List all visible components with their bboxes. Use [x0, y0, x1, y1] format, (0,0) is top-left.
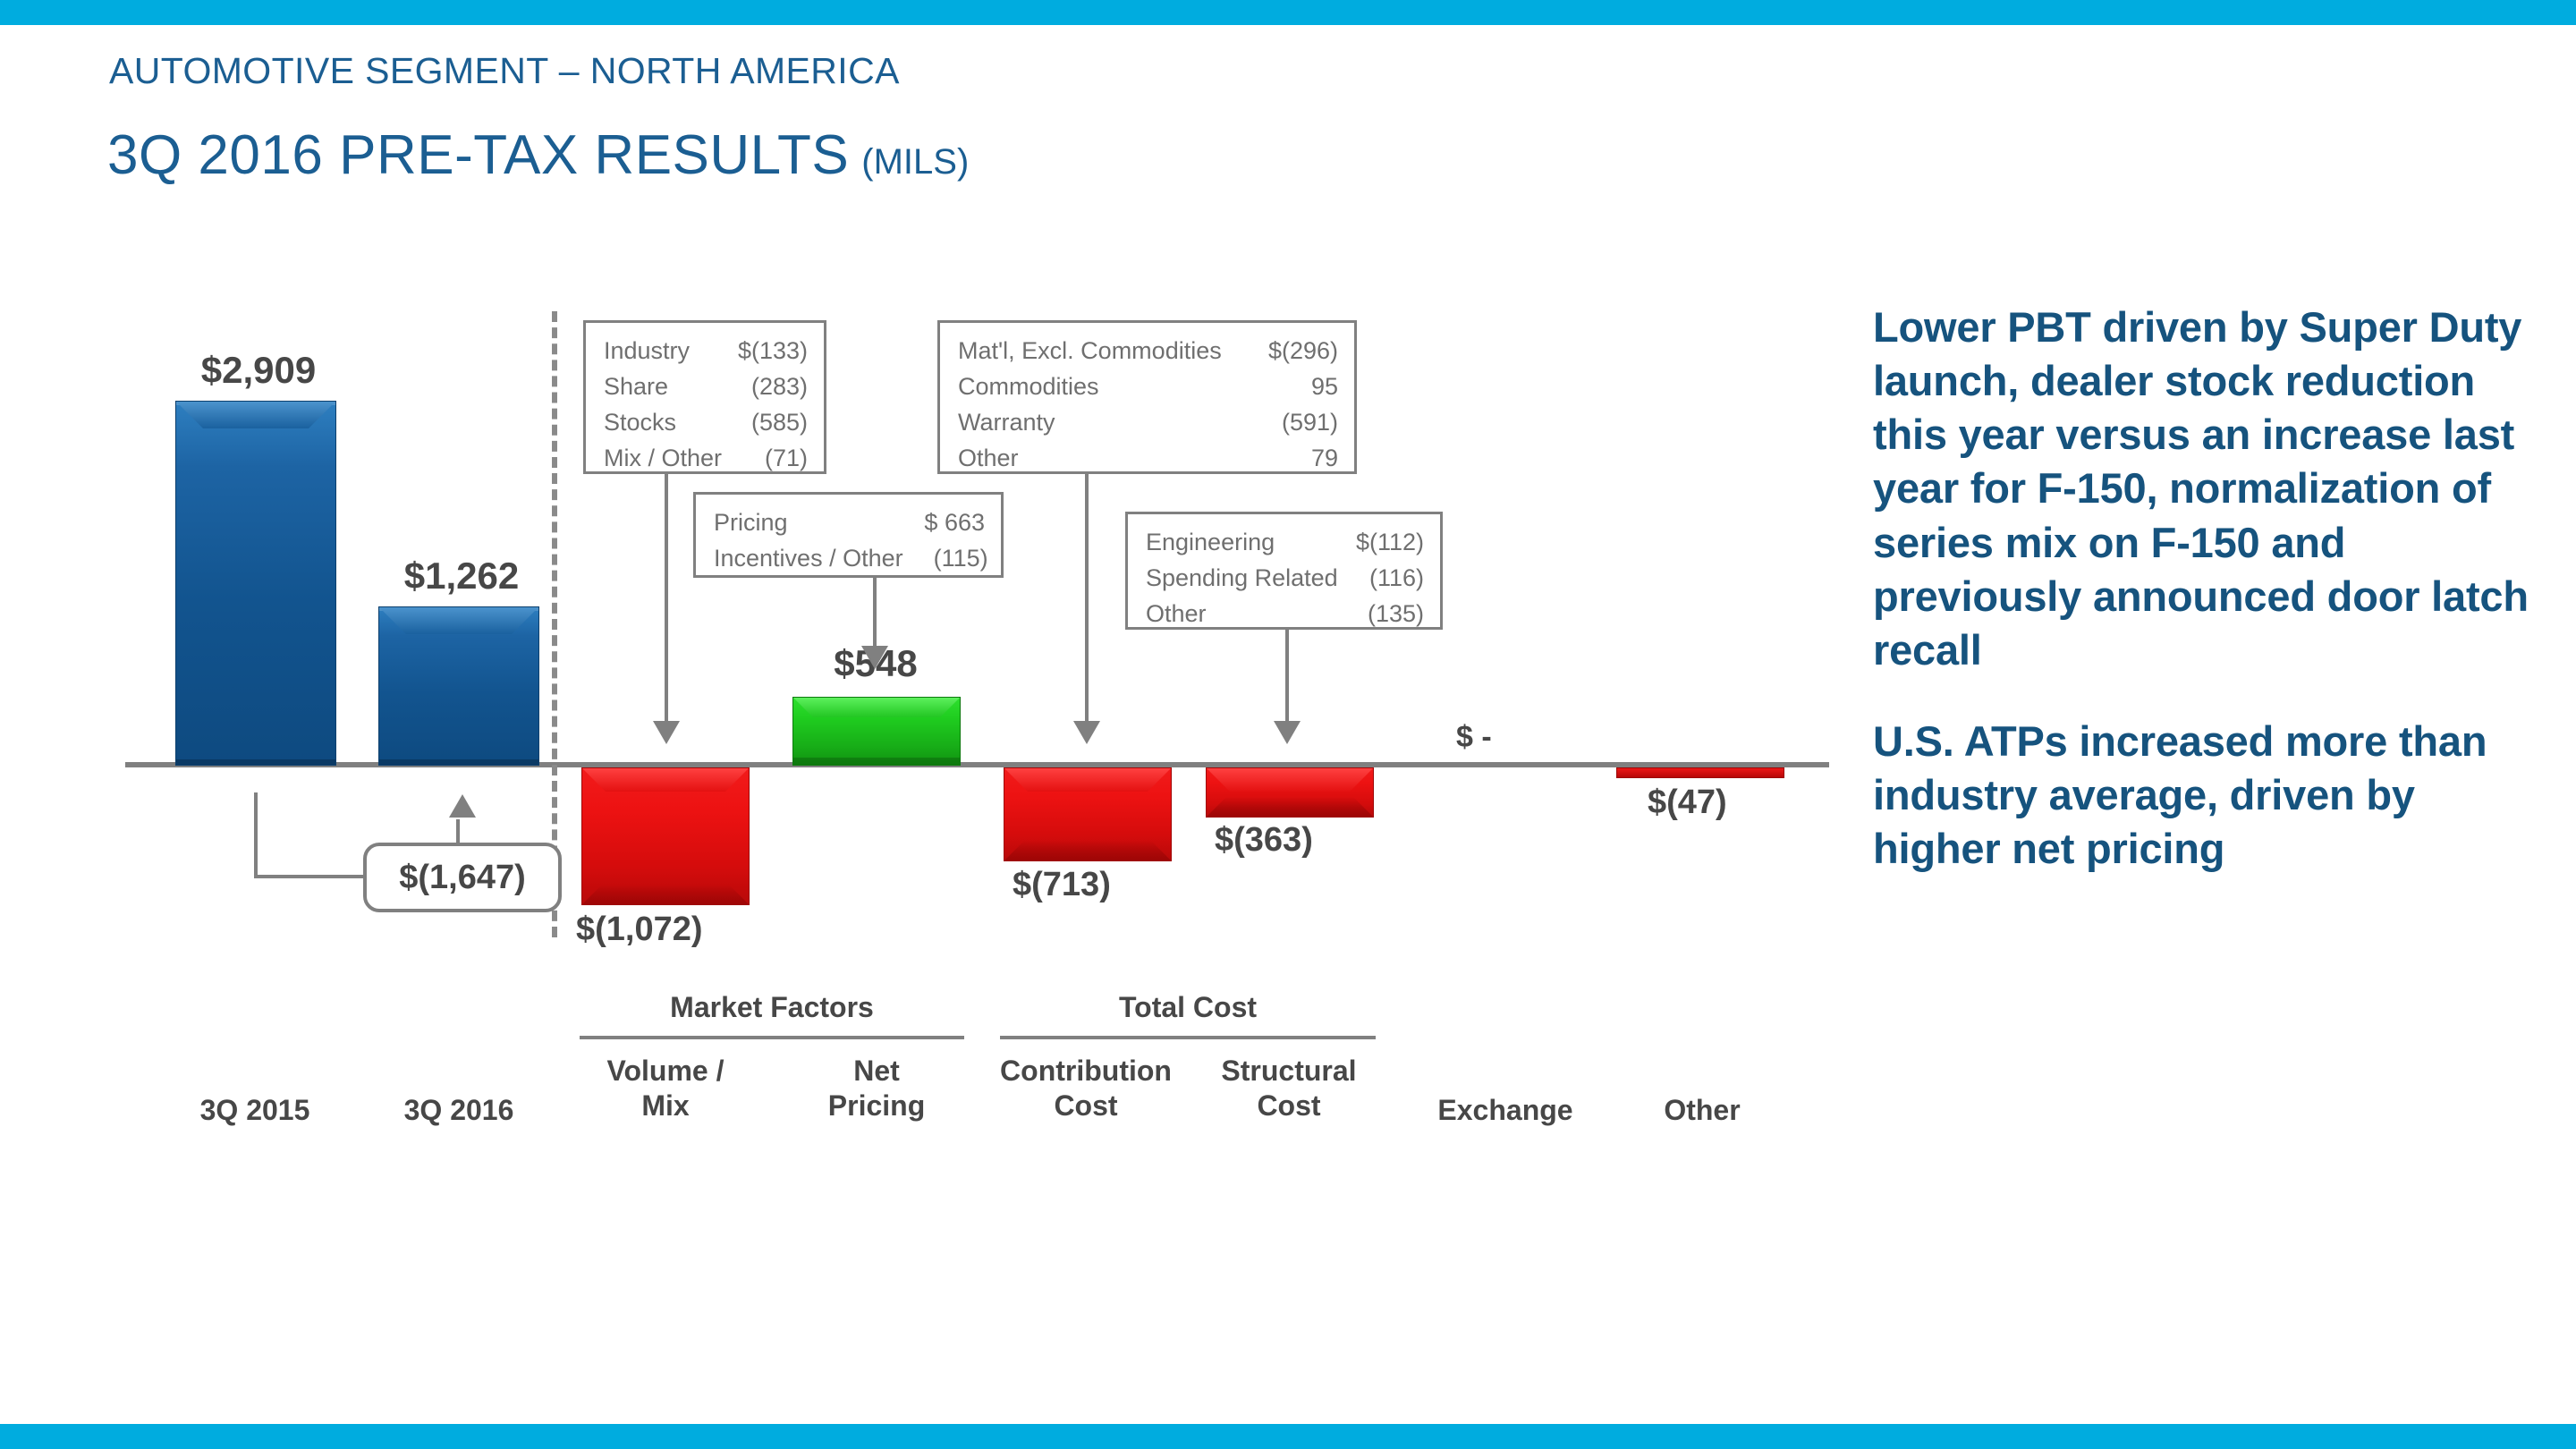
callout-row-value: $(296) — [1268, 334, 1338, 369]
value-label-3q-2015: $2,909 — [179, 349, 338, 392]
commentary-paragraph-1: Lower PBT driven by Super Duty launch, d… — [1873, 301, 2535, 677]
total-change-arrow-stem — [456, 819, 460, 844]
bar-contribution-cost[interactable] — [1004, 767, 1172, 861]
callout-row-label: Stocks — [604, 405, 676, 441]
callout-row: Pricing $ 663 — [714, 505, 985, 541]
callout-row-value: (591) — [1282, 405, 1338, 441]
callout-row-value: (115) — [934, 541, 988, 577]
axis-label-line2: Cost — [1190, 1089, 1388, 1123]
callout-row-label: Engineering — [1146, 525, 1275, 561]
callout-row-label: Pricing — [714, 505, 788, 541]
callout-row: Share (283) — [604, 369, 808, 405]
callout-row: Stocks (585) — [604, 405, 808, 441]
callout-row-label: Other — [958, 441, 1019, 477]
callout-row: Mat'l, Excl. Commodities $(296) — [958, 334, 1338, 369]
axis-label-line1: Contribution — [982, 1054, 1190, 1089]
axis-label-line1: Structural — [1190, 1054, 1388, 1089]
callout-row: Industry $(133) — [604, 334, 808, 369]
group-header-total-cost: Total Cost — [1000, 991, 1376, 1024]
bottom-brand-bar — [0, 1424, 2576, 1449]
callout-row-value: (283) — [751, 369, 808, 405]
callout-row-value: $(112) — [1356, 525, 1424, 561]
callout-row: Other 79 — [958, 441, 1338, 477]
axis-label-line2: Cost — [982, 1089, 1190, 1123]
callout-row-label: Mix / Other — [604, 441, 722, 477]
group-header-total-cost-rule — [1000, 1036, 1376, 1039]
commentary-paragraph-2: U.S. ATPs increased more than industry a… — [1873, 715, 2535, 876]
axis-label-3q-2016: 3Q 2016 — [374, 1093, 544, 1128]
waterfall-chart: $2,909 $1,262 $(1,072) $548 $(713) $(363… — [0, 0, 1851, 1163]
callout-row: Spending Related (116) — [1146, 561, 1424, 597]
callout-row-value: (135) — [1368, 597, 1424, 632]
callout-row: Commodities 95 — [958, 369, 1338, 405]
axis-label-structural-cost: Structural Cost — [1190, 1054, 1388, 1123]
callout-row-value: 79 — [1311, 441, 1338, 477]
axis-label-exchange: Exchange — [1406, 1093, 1605, 1128]
callout-row-label: Warranty — [958, 405, 1055, 441]
value-label-3q-2016: $1,262 — [382, 555, 541, 597]
bar-net-pricing[interactable] — [792, 697, 961, 766]
callout-row-value: (585) — [751, 405, 808, 441]
axis-label-net-pricing: Net Pricing — [791, 1054, 962, 1123]
callout-row-value: 95 — [1311, 369, 1338, 405]
group-header-market-factors-rule — [580, 1036, 964, 1039]
contribution-cost-connector-stem — [1085, 474, 1089, 723]
callout-row-value: $(133) — [738, 334, 808, 369]
net-pricing-callout[interactable]: Pricing $ 663 Incentives / Other (115) — [693, 492, 1004, 578]
callout-row-value: (71) — [765, 441, 808, 477]
value-label-exchange: $ - — [1456, 720, 1492, 755]
callout-row-label: Incentives / Other — [714, 541, 903, 577]
structural-cost-connector-stem — [1285, 630, 1289, 723]
value-label-volume-mix: $(1,072) — [576, 911, 703, 949]
structural-cost-callout[interactable]: Engineering $(112) Spending Related (116… — [1125, 512, 1443, 630]
callout-row: Engineering $(112) — [1146, 525, 1424, 561]
axis-label-line1: Other — [1617, 1093, 1787, 1128]
contribution-cost-callout[interactable]: Mat'l, Excl. Commodities $(296) Commodit… — [937, 320, 1357, 474]
callout-row: Mix / Other (71) — [604, 441, 808, 477]
volume-mix-callout[interactable]: Industry $(133) Share (283) Stocks (585)… — [583, 320, 826, 474]
bar-volume-mix[interactable] — [581, 767, 750, 905]
bar-other[interactable] — [1616, 767, 1784, 778]
value-label-other: $(47) — [1648, 784, 1727, 822]
volume-mix-connector-arrow-icon — [653, 721, 680, 744]
callout-row-label: Commodities — [958, 369, 1099, 405]
net-pricing-connector-arrow-icon — [861, 646, 888, 669]
total-change-arrow-up-icon — [449, 794, 476, 818]
axis-label-line2: Mix — [580, 1089, 751, 1123]
axis-label-line1: Exchange — [1406, 1093, 1605, 1128]
contribution-cost-connector-arrow-icon — [1073, 721, 1100, 744]
bar-structural-cost[interactable] — [1206, 767, 1374, 818]
axis-label-line1: 3Q 2016 — [374, 1093, 544, 1128]
callout-row: Incentives / Other (115) — [714, 541, 985, 577]
bar-3q-2015[interactable] — [175, 401, 336, 766]
axis-label-other: Other — [1617, 1093, 1787, 1128]
volume-mix-connector-stem — [665, 474, 668, 723]
axis-label-line1: Volume / — [580, 1054, 751, 1089]
bar-3q-2016[interactable] — [378, 606, 539, 766]
axis-label-line1: Net — [791, 1054, 962, 1089]
total-change-bracket-horizontal — [254, 875, 367, 878]
callout-row-label: Spending Related — [1146, 561, 1338, 597]
net-pricing-connector-stem — [873, 578, 877, 648]
callout-row-label: Industry — [604, 334, 690, 369]
total-change-callout[interactable]: $(1,647) — [363, 843, 562, 912]
axis-label-3q-2015: 3Q 2015 — [170, 1093, 340, 1128]
callout-row-label: Share — [604, 369, 668, 405]
callout-row: Other (135) — [1146, 597, 1424, 632]
value-label-contribution-cost: $(713) — [1013, 866, 1111, 904]
axis-label-contribution-cost: Contribution Cost — [982, 1054, 1190, 1123]
callout-row-value: $ 663 — [924, 505, 985, 541]
axis-label-line2: Pricing — [791, 1089, 962, 1123]
axis-label-line1: 3Q 2015 — [170, 1093, 340, 1128]
callout-row-label: Other — [1146, 597, 1207, 632]
total-change-bracket-vertical-left — [254, 792, 258, 878]
axis-label-volume-mix: Volume / Mix — [580, 1054, 751, 1123]
commentary-panel: Lower PBT driven by Super Duty launch, d… — [1873, 301, 2535, 914]
value-label-structural-cost: $(363) — [1215, 821, 1313, 860]
group-header-market-factors: Market Factors — [580, 991, 964, 1024]
structural-cost-connector-arrow-icon — [1274, 721, 1301, 744]
callout-row: Warranty (591) — [958, 405, 1338, 441]
total-change-callout-label: $(1,647) — [399, 859, 526, 897]
callout-row-value: (116) — [1369, 561, 1424, 597]
callout-row-label: Mat'l, Excl. Commodities — [958, 334, 1222, 369]
